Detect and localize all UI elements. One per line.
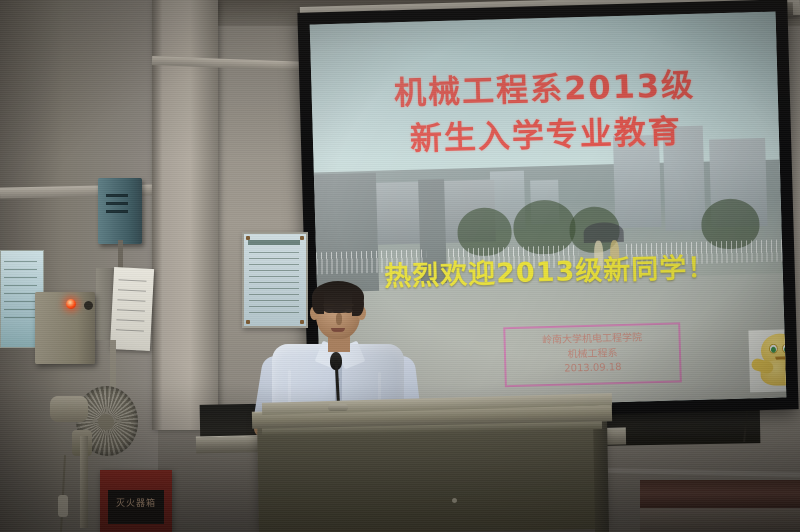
classroom-photo: 机械工程系2013级 新生入学专业教育 热烈欢迎2013级新同学！ 岭南大学机电… — [0, 0, 800, 532]
scene-vignette — [0, 0, 800, 532]
